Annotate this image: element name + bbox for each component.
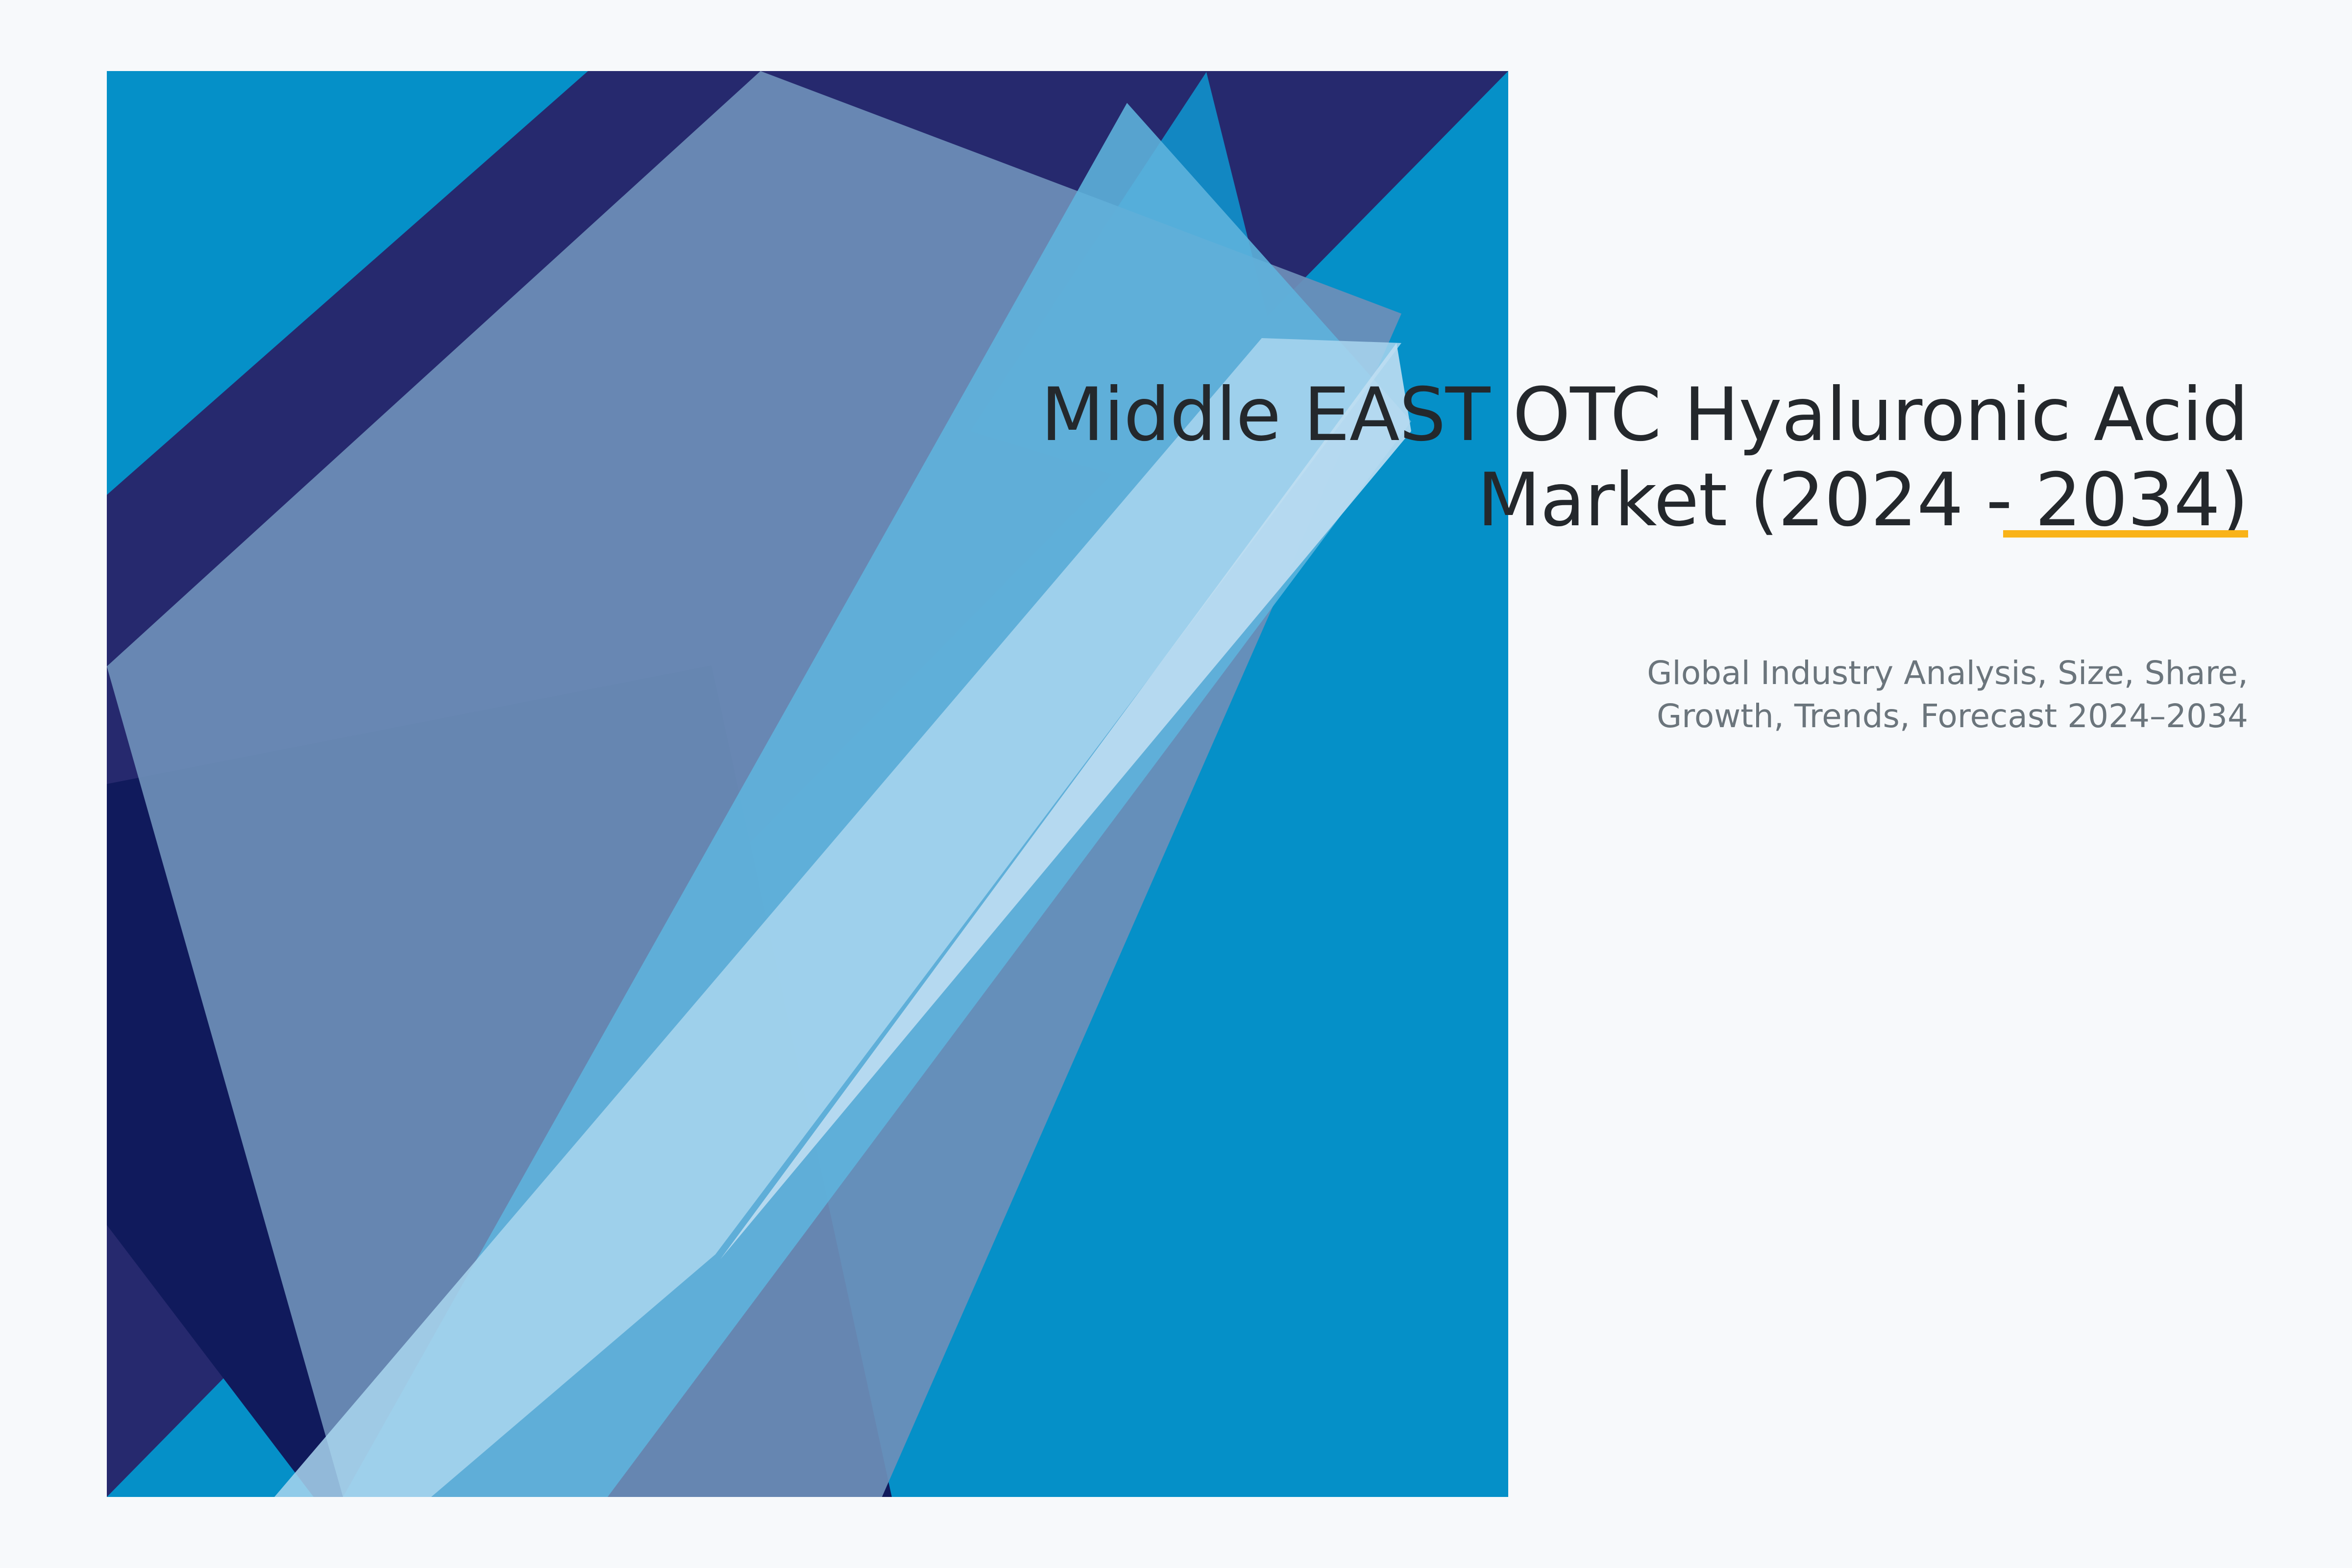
page-title: Middle EAST OTC Hyaluronic Acid Market (… — [931, 372, 2248, 543]
shape-cyan-base-rect — [107, 71, 1508, 1497]
shape-deep-navy-v-wedge — [107, 665, 892, 1497]
shape-navy-upper-triangle — [107, 71, 1508, 1497]
page-subtitle: Global Industry Analysis, Size, Share, G… — [1274, 652, 2248, 738]
shape-steel-blue-overlay — [107, 71, 1401, 1497]
geometric-artwork — [0, 0, 2352, 1568]
title-block: Middle EAST OTC Hyaluronic Acid Market (… — [931, 372, 2248, 543]
accent-underline — [2003, 530, 2248, 538]
report-cover-page: Middle EAST OTC Hyaluronic Acid Market (… — [0, 0, 2352, 1568]
shape-sky-blue-band — [343, 103, 1411, 1497]
